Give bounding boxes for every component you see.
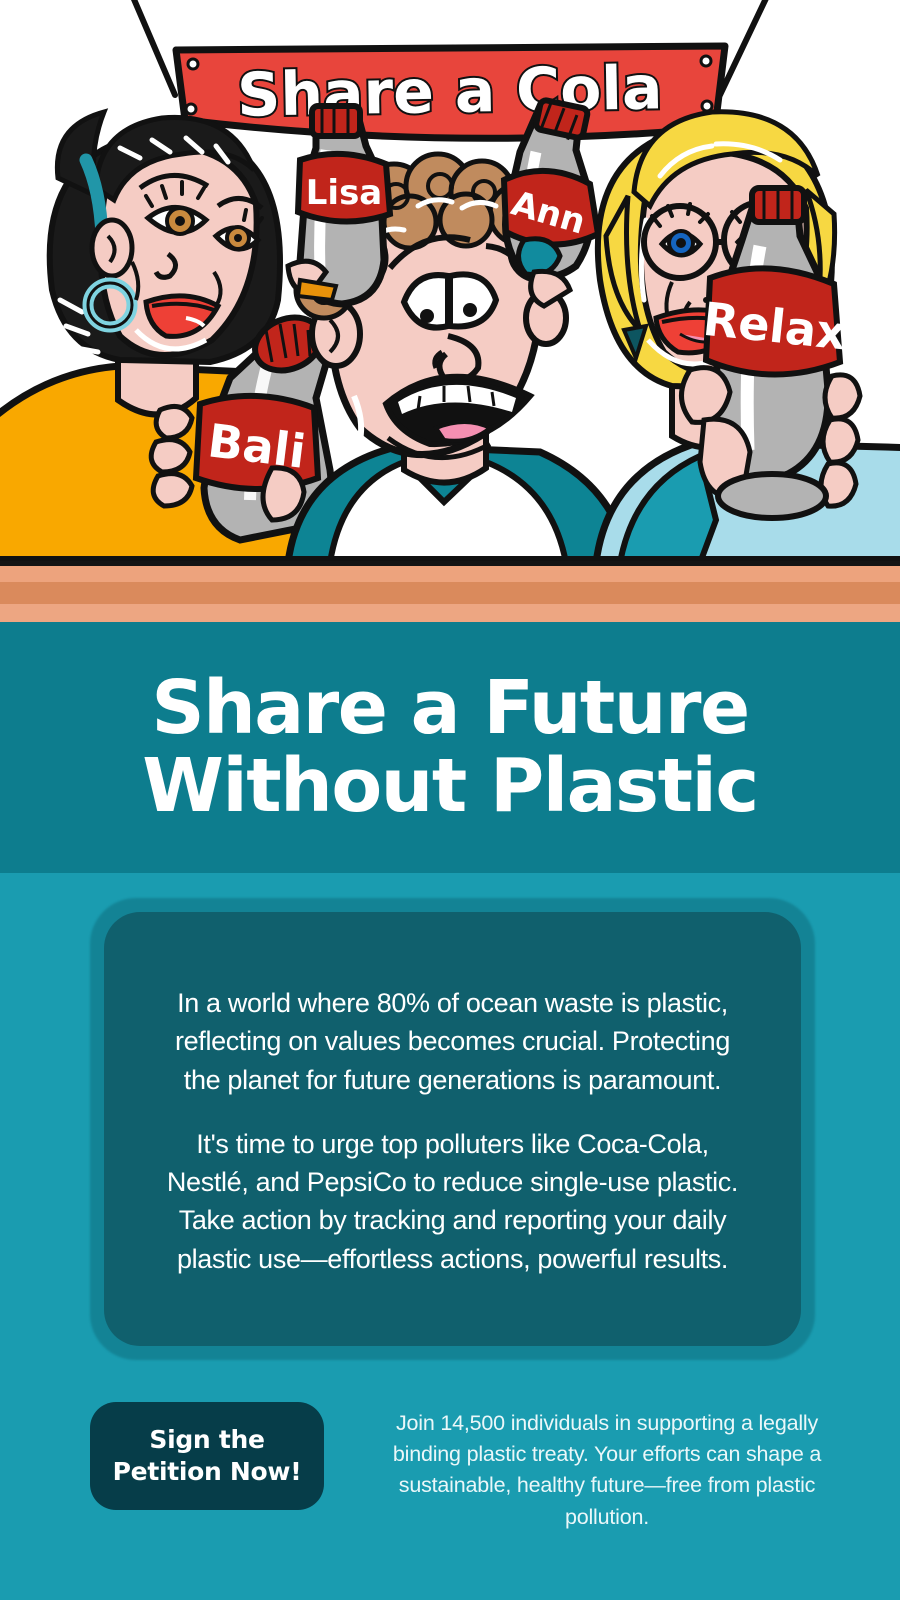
body-paragraph-1: In a world where 80% of ocean waste is p… — [156, 984, 749, 1099]
title-section: Share a Future Without Plastic — [0, 622, 900, 873]
sign-petition-button-line-2: Petition Now! — [113, 1456, 302, 1488]
banner-shape: Share a Cola — [176, 46, 725, 138]
description-card: In a world where 80% of ocean waste is p… — [90, 898, 815, 1360]
divider-band-peach-bottom — [0, 604, 900, 622]
divider-band-peach-top — [0, 566, 900, 582]
svg-text:Lisa: Lisa — [306, 173, 383, 213]
card-body: In a world where 80% of ocean waste is p… — [104, 912, 801, 1346]
hero-illustration: Share a Cola — [0, 0, 900, 563]
page-title-line-2: Without Plastic — [142, 751, 757, 823]
divider-band-tan — [0, 582, 900, 604]
sign-petition-button-line-1: Sign the — [149, 1424, 264, 1456]
body-paragraph-2: It's time to urge top polluters like Coc… — [156, 1125, 749, 1278]
page-title-line-1: Share a Future — [151, 673, 748, 745]
cta-row: Sign the Petition Now! Join 14,500 indiv… — [0, 1402, 900, 1533]
svg-text:Share a Cola: Share a Cola — [237, 53, 663, 130]
cta-supporting-text: Join 14,500 individuals in supporting a … — [370, 1402, 844, 1533]
sign-petition-button[interactable]: Sign the Petition Now! — [90, 1402, 324, 1510]
poster-page: Share a Cola — [0, 0, 900, 1600]
